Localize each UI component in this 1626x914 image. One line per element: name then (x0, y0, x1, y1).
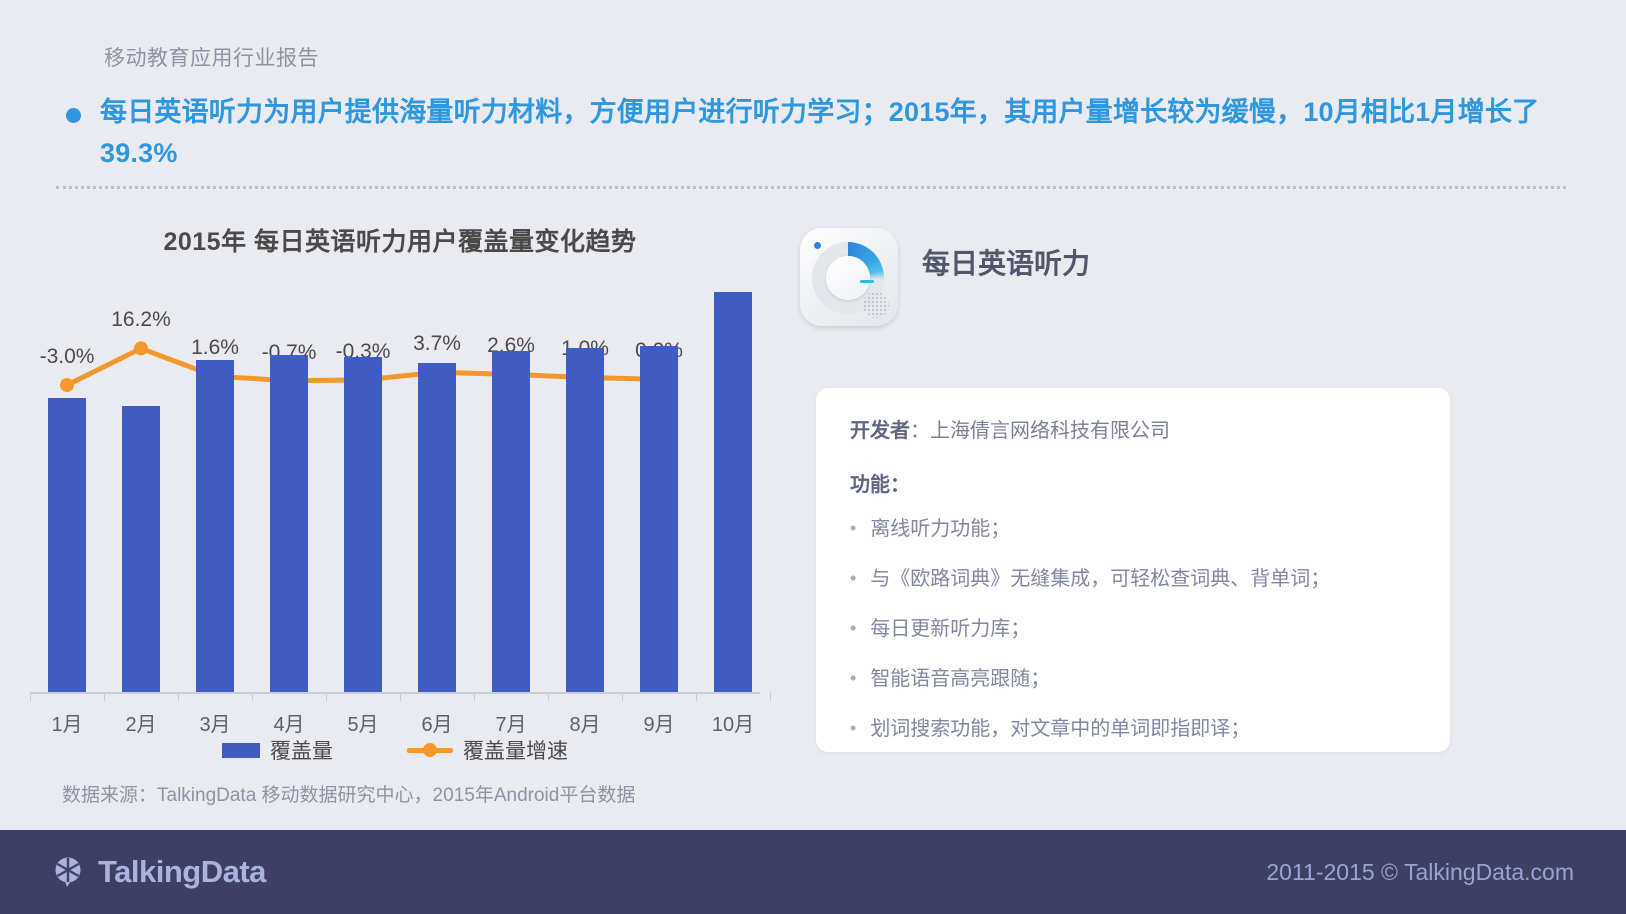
x-tick (178, 692, 179, 701)
report-kicker: 移动教育应用行业报告 (104, 42, 319, 72)
copyright-text: 2011-2015 © TalkingData.com (1266, 859, 1574, 886)
talkingdata-logo-icon (52, 855, 86, 889)
feature-text: 每日更新听力库； (870, 615, 1030, 644)
x-axis-label-2月: 2月 (125, 708, 156, 737)
bar-6月 (418, 363, 456, 693)
x-axis-label-8月: 8月 (569, 708, 600, 737)
page-title: 每日英语听力为用户提供海量听力材料，方便用户进行听力学习；2015年，其用户量增… (100, 92, 1570, 174)
developer-line: 开发者：上海倩言网络科技有限公司 (850, 416, 1416, 446)
x-axis-label-7月: 7月 (495, 708, 526, 737)
developer-name: 上海倩言网络科技有限公司 (930, 420, 1170, 442)
chart-legend: 覆盖量 覆盖量增速 (0, 735, 790, 765)
header-divider (56, 186, 1566, 189)
slide-root: 移动教育应用行业报告 每日英语听力为用户提供海量听力材料，方便用户进行听力学习；… (0, 0, 1626, 914)
x-axis-label-9月: 9月 (643, 708, 674, 737)
feature-item: •离线听力功能； (850, 515, 1416, 544)
bullet-icon: • (850, 715, 856, 742)
legend-item-growth: 覆盖量增速 (407, 735, 568, 765)
x-tick (696, 692, 697, 701)
headline-bullet-icon (66, 108, 81, 123)
feature-text: 与《欧路词典》无缝集成，可轻松查词典、背单词； (870, 565, 1330, 594)
x-tick (548, 692, 549, 701)
functions-heading: 功能： (850, 468, 1416, 497)
bar-9月 (640, 346, 678, 692)
data-source-note: 数据来源：TalkingData 移动数据研究中心，2015年Android平台… (62, 780, 635, 807)
x-tick (104, 692, 105, 701)
bar-swatch-icon (222, 743, 260, 758)
bar-8月 (566, 348, 604, 692)
x-axis-label-3月: 3月 (199, 708, 230, 737)
legend-label-growth: 覆盖量增速 (463, 735, 568, 765)
icon-dial-center (826, 256, 870, 300)
x-tick (474, 692, 475, 701)
x-axis-label-10月: 10月 (712, 708, 754, 737)
x-axis-label-4月: 4月 (273, 708, 304, 737)
app-info-card: 开发者：上海倩言网络科技有限公司 功能： •离线听力功能；•与《欧路词典》无缝集… (816, 388, 1450, 752)
feature-item: •划词搜索功能，对文章中的单词即指即译； (850, 715, 1416, 744)
x-axis-line (30, 692, 760, 694)
x-axis-label-6月: 6月 (421, 708, 452, 737)
page-footer: TalkingData 2011-2015 © TalkingData.com (0, 830, 1626, 914)
icon-speaker-mesh (863, 292, 889, 318)
feature-list: •离线听力功能；•与《欧路词典》无缝集成，可轻松查词典、背单词；•每日更新听力库… (850, 515, 1416, 744)
feature-item: •与《欧路词典》无缝集成，可轻松查词典、背单词； (850, 565, 1416, 594)
icon-indicator-dot (814, 242, 821, 249)
bullet-icon: • (850, 515, 856, 542)
x-tick (400, 692, 401, 701)
x-tick (252, 692, 253, 701)
daily-english-listening-app-icon (800, 228, 898, 326)
bullet-icon: • (850, 565, 856, 592)
bar-4月 (270, 355, 308, 692)
bar-10月 (714, 292, 752, 692)
bullet-icon: • (850, 665, 856, 692)
feature-text: 离线听力功能； (870, 515, 1010, 544)
x-tick (770, 692, 771, 701)
bar-1月 (48, 398, 86, 692)
talkingdata-brand: TalkingData (52, 854, 266, 890)
brand-name: TalkingData (98, 854, 266, 890)
feature-text: 智能语音高亮跟随； (870, 665, 1050, 694)
developer-label: 开发者 (850, 420, 910, 442)
chart-title: 2015年 每日英语听力用户覆盖量变化趋势 (0, 222, 800, 258)
coverage-bar-series (30, 292, 770, 692)
feature-item: •智能语音高亮跟随； (850, 665, 1416, 694)
x-tick (622, 692, 623, 701)
line-swatch-icon (407, 743, 453, 757)
feature-item: •每日更新听力库； (850, 615, 1416, 644)
feature-text: 划词搜索功能，对文章中的单词即指即译； (870, 715, 1250, 744)
legend-item-coverage: 覆盖量 (222, 735, 333, 765)
bar-7月 (492, 351, 530, 692)
x-tick (30, 692, 31, 701)
bar-5月 (344, 357, 382, 692)
x-axis-label-5月: 5月 (347, 708, 378, 737)
app-name: 每日英语听力 (922, 242, 1090, 282)
x-tick (326, 692, 327, 701)
bar-2月 (122, 406, 160, 692)
icon-dial-needle (860, 280, 874, 283)
bullet-icon: • (850, 615, 856, 642)
legend-label-coverage: 覆盖量 (270, 735, 333, 765)
bar-3月 (196, 360, 234, 692)
x-axis-label-1月: 1月 (51, 708, 82, 737)
